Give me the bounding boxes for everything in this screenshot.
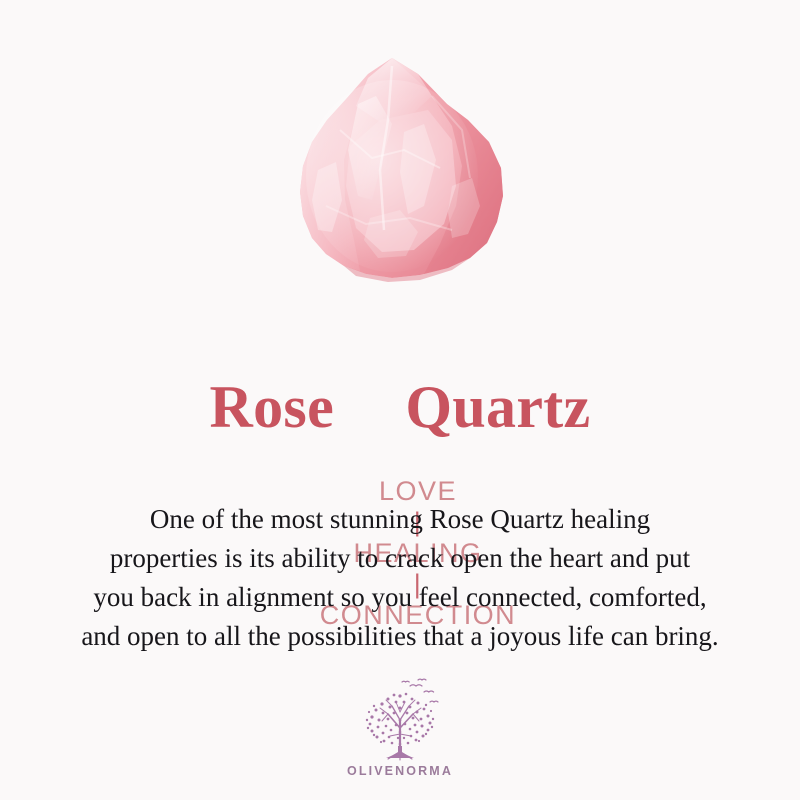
rose-quartz-crystal-icon (0, 0, 800, 300)
description-line: you back in alignment so you feel connec… (0, 578, 800, 617)
description-line: One of the most stunning Rose Quartz hea… (0, 500, 800, 539)
product-description: One of the most stunning Rose Quartz hea… (0, 500, 800, 656)
tree-of-life-icon (352, 676, 448, 762)
description-line: properties is its ability to crack open … (0, 539, 800, 578)
brand-wordmark: OLIVENORMA (347, 764, 453, 778)
description-line: and open to all the possibilities that a… (0, 617, 800, 656)
brand-logo: OLIVENORMA (0, 676, 800, 778)
page-title: Rose Quartz (0, 376, 800, 439)
product-image (0, 0, 800, 300)
product-info-card: Rose Quartz LOVE | HEALING | CONNECTION … (0, 0, 800, 800)
birds-icon (402, 679, 438, 702)
